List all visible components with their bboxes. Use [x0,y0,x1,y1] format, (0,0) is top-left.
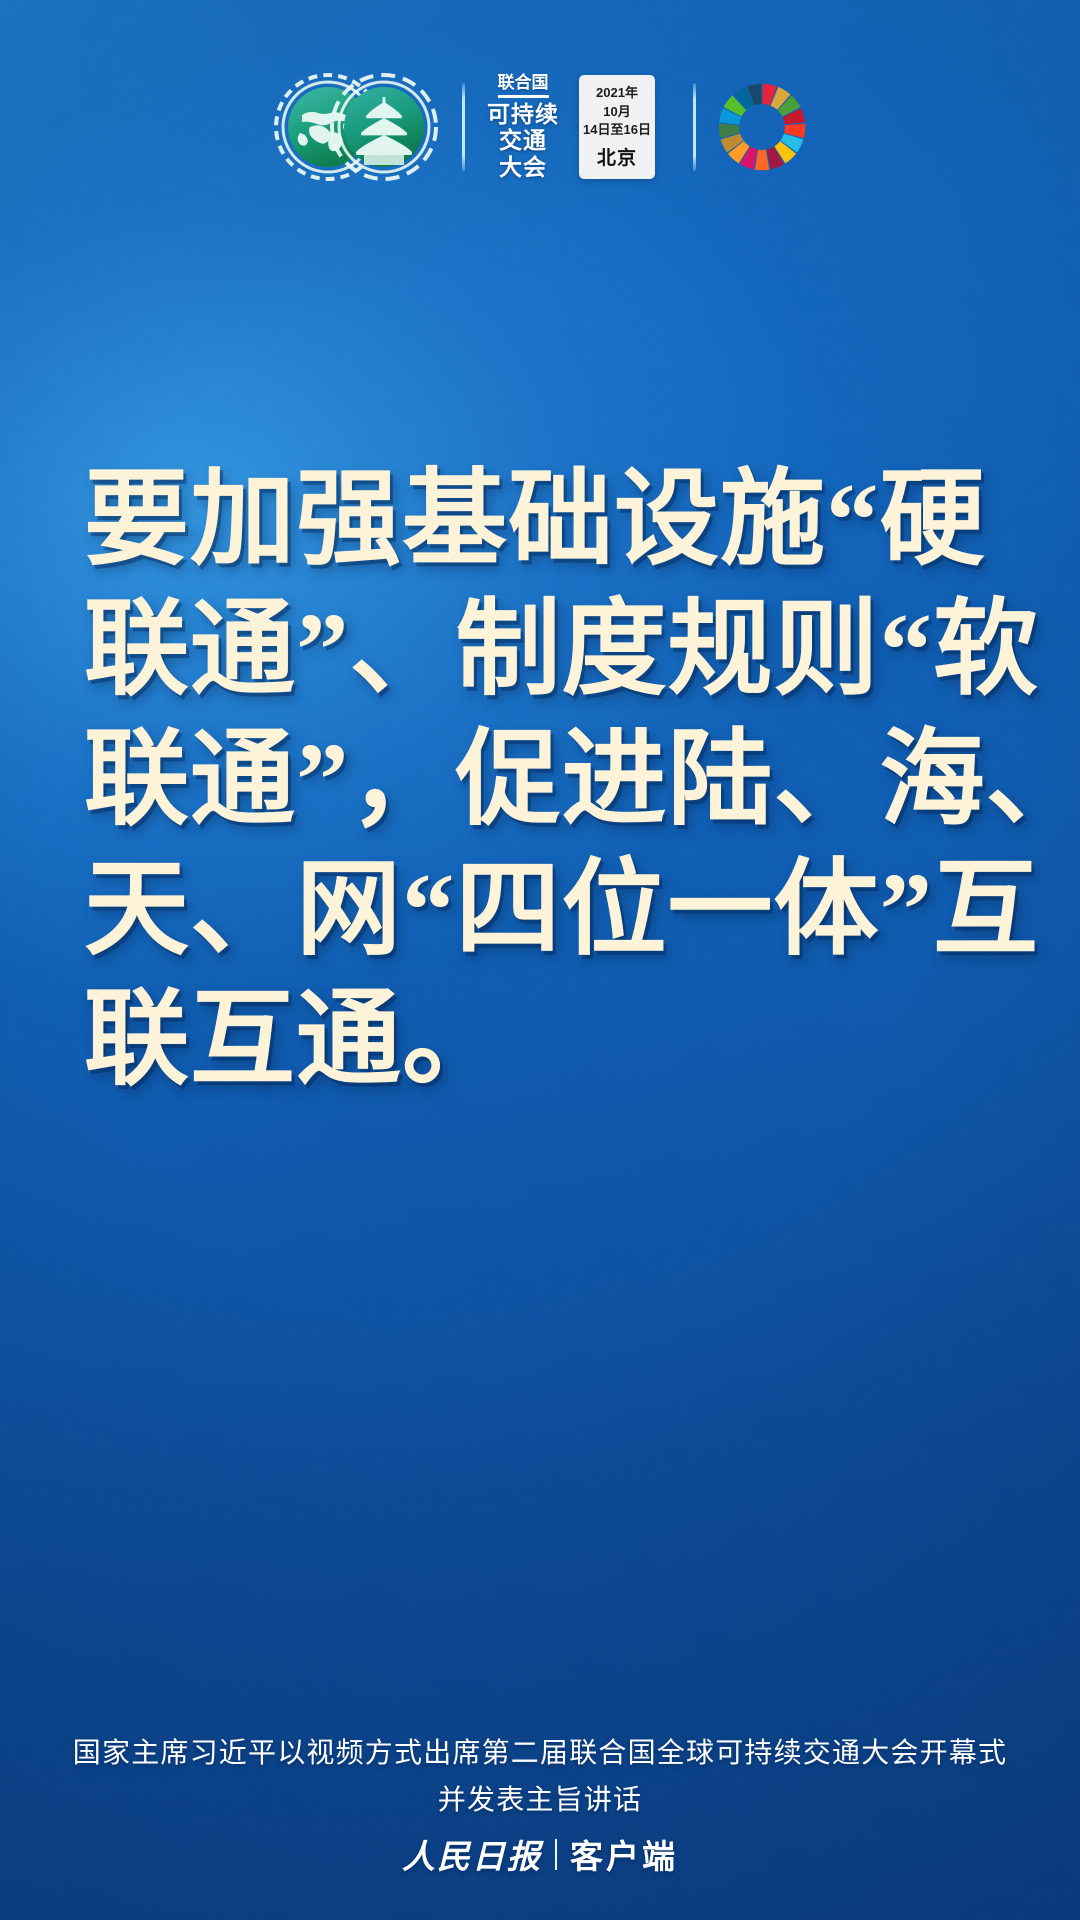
conference-name-line-1: 可持续 [487,101,559,128]
header-lockup: 联合国 可持续 交通 大会 2021年 10月 14日至16日 北京 [0,62,1080,192]
headline-line-4: 天、网“四位一体”互 [84,845,996,975]
headline-line-5: 联互通。 [84,975,996,1105]
publisher-name: 人民日报 [402,1830,542,1878]
caption-line-2: 并发表主旨讲话 [0,1777,1080,1824]
headline-line-1: 要加强基础设施“硬 [84,455,996,585]
date-month: 10月 [603,103,630,121]
date-year: 2021年 [596,84,638,102]
caption-line-1: 国家主席习近平以视频方式出席第二届联合国全球可持续交通大会开幕式 [0,1730,1080,1777]
conference-date-box: 2021年 10月 14日至16日 北京 [579,75,655,178]
un-sustainable-transport-emblem-icon [272,71,442,183]
brand-divider [555,1839,557,1870]
headline-quote: 要加强基础设施“硬 联通”、制度规则“软 联通”，促进陆、海、 天、网“四位一体… [84,455,996,1105]
header-divider-right [693,83,696,171]
headline-line-3: 联通”，促进陆、海、 [84,715,996,845]
conference-name-line-2: 交通 [499,127,547,154]
header-divider-left [462,83,465,171]
publisher-brand: 人民日报 客户端 [0,1830,1080,1878]
conference-organizer: 联合国 [498,73,549,97]
date-days: 14日至16日 [583,121,651,139]
poster-canvas: 联合国 可持续 交通 大会 2021年 10月 14日至16日 北京 要加强基础… [0,0,1080,1920]
date-city: 北京 [597,143,637,170]
publisher-product: 客户端 [570,1830,678,1878]
conference-name-block: 联合国 可持续 交通 大会 [485,73,561,180]
caption-block: 国家主席习近平以视频方式出席第二届联合国全球可持续交通大会开幕式 并发表主旨讲话 [0,1730,1080,1824]
sdg-wheel-segment [755,150,769,171]
sdg-color-wheel-icon [716,81,808,173]
headline-line-2: 联通”、制度规则“软 [84,585,996,715]
conference-name-line-3: 大会 [499,154,547,181]
